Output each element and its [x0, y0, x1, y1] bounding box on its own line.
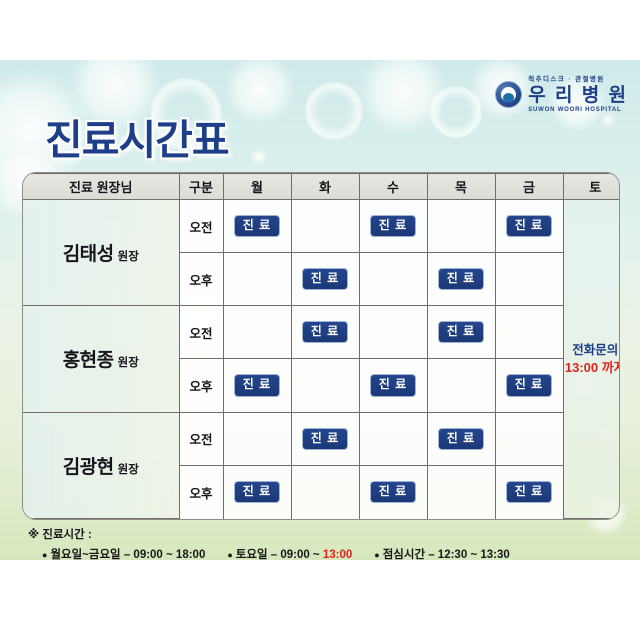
schedule-cell-active: 진 료	[427, 306, 495, 359]
schedule-cell-active: 진 료	[427, 412, 495, 465]
column-header-wednesday: 수	[359, 174, 427, 200]
schedule-cell-active: 진 료	[495, 359, 563, 412]
consultation-badge: 진 료	[370, 215, 416, 237]
consultation-badge: 진 료	[302, 428, 348, 450]
saturday-note-line2: 13:00 까지	[564, 359, 621, 378]
schedule-cell-active: 진 료	[223, 465, 291, 518]
table-header-row: 진료 원장님 구분 월 화 수 목 금 토	[23, 174, 620, 200]
bokeh-circle	[305, 82, 363, 140]
table-row: 김광현원장오전진 료진 료	[23, 412, 620, 465]
note-hours-row: ●월요일~금요일 – 09:00 ~ 18:00 ●토요일 – 09:00 ~ …	[28, 546, 618, 560]
bokeh-circle	[225, 60, 295, 124]
period-cell: 오전	[179, 412, 223, 465]
schedule-cell-empty	[359, 412, 427, 465]
column-header-period: 구분	[179, 174, 223, 200]
doctor-title: 원장	[118, 464, 139, 476]
consultation-badge: 진 료	[302, 321, 348, 343]
schedule-cell-active: 진 료	[359, 200, 427, 253]
doctor-title: 원장	[118, 357, 139, 369]
bokeh-circle	[430, 86, 482, 138]
schedule-cell-empty	[291, 359, 359, 412]
table-row: 김태성원장오전진 료진 료진 료전화문의13:00 까지	[23, 200, 620, 253]
note-hours-label: ※ 진료시간 :	[28, 526, 618, 542]
doctor-name: 김광현	[63, 457, 114, 478]
consultation-badge: 진 료	[302, 268, 348, 290]
doctor-title: 원장	[118, 251, 139, 263]
column-header-doctor: 진료 원장님	[23, 174, 179, 200]
consultation-badge: 진 료	[438, 428, 484, 450]
schedule-cell-empty	[223, 253, 291, 306]
schedule-cell-empty	[359, 306, 427, 359]
schedule-cell-empty	[495, 306, 563, 359]
column-header-saturday: 토	[563, 174, 620, 200]
logo-tagline: 척추디스크 · 관절병원	[528, 77, 628, 84]
consultation-badge: 진 료	[506, 481, 552, 503]
schedule-cell-active: 진 료	[291, 412, 359, 465]
clinic-schedule-poster: 진료시간표 척추디스크 · 관절병원 우 리 병 원 SUWON WOORI H…	[0, 60, 640, 560]
hospital-logo: 척추디스크 · 관절병원 우 리 병 원 SUWON WOORI HOSPITA…	[495, 77, 628, 113]
consultation-badge: 진 료	[506, 215, 552, 237]
schedule-table-card: 진료 원장님 구분 월 화 수 목 금 토 김태성원장오전진 료진 료진 료전화…	[22, 172, 620, 520]
schedule-cell-active: 진 료	[291, 306, 359, 359]
consultation-badge: 진 료	[370, 481, 416, 503]
schedule-cell-empty	[291, 200, 359, 253]
table-row: 홍현종원장오전진 료진 료	[23, 306, 620, 359]
schedule-table: 진료 원장님 구분 월 화 수 목 금 토 김태성원장오전진 료진 료진 료전화…	[23, 173, 620, 519]
note-lunch-hours: ●점심시간 – 12:30 ~ 13:30	[374, 546, 509, 560]
period-cell: 오후	[179, 359, 223, 412]
schedule-cell-active: 진 료	[427, 253, 495, 306]
bokeh-circle	[360, 60, 446, 134]
consultation-badge: 진 료	[438, 321, 484, 343]
consultation-badge: 진 료	[370, 374, 416, 396]
schedule-cell-empty	[427, 359, 495, 412]
schedule-cell-empty	[291, 465, 359, 518]
period-cell: 오전	[179, 200, 223, 253]
schedule-cell-empty	[223, 412, 291, 465]
doctor-name-cell: 홍현종원장	[23, 306, 179, 412]
schedule-cell-empty	[495, 253, 563, 306]
schedule-cell-empty	[495, 412, 563, 465]
schedule-cell-empty	[223, 306, 291, 359]
saturday-note-cell: 전화문의13:00 까지	[563, 200, 620, 519]
schedule-cell-empty	[359, 253, 427, 306]
doctor-name: 홍현종	[63, 350, 114, 371]
doctor-name-cell: 김태성원장	[23, 200, 179, 306]
schedule-cell-active: 진 료	[495, 200, 563, 253]
note-saturday-hours: ●토요일 – 09:00 ~ 13:00	[227, 546, 352, 560]
column-header-monday: 월	[223, 174, 291, 200]
schedule-cell-active: 진 료	[495, 465, 563, 518]
column-header-friday: 금	[495, 174, 563, 200]
bokeh-circle	[250, 148, 268, 166]
period-cell: 오후	[179, 253, 223, 306]
schedule-cell-active: 진 료	[223, 200, 291, 253]
consultation-badge: 진 료	[234, 215, 280, 237]
consultation-badge: 진 료	[234, 481, 280, 503]
consultation-badge: 진 료	[438, 268, 484, 290]
schedule-cell-active: 진 료	[223, 359, 291, 412]
consultation-badge: 진 료	[506, 374, 552, 396]
saturday-note-line1: 전화문의	[564, 341, 621, 359]
footnotes: ※ 진료시간 : ●월요일~금요일 – 09:00 ~ 18:00 ●토요일 –…	[28, 526, 618, 560]
period-cell: 오전	[179, 306, 223, 359]
period-cell: 오후	[179, 465, 223, 518]
schedule-cell-empty	[427, 465, 495, 518]
schedule-cell-empty	[427, 200, 495, 253]
note-weekday-hours: ●월요일~금요일 – 09:00 ~ 18:00	[42, 546, 205, 560]
schedule-cell-active: 진 료	[291, 253, 359, 306]
schedule-cell-active: 진 료	[359, 465, 427, 518]
doctor-name: 김태성	[63, 244, 114, 265]
schedule-cell-active: 진 료	[359, 359, 427, 412]
doctor-name-cell: 김광현원장	[23, 412, 179, 518]
table-body: 김태성원장오전진 료진 료진 료전화문의13:00 까지오후진 료진 료홍현종원…	[23, 200, 620, 519]
bokeh-circle	[600, 112, 616, 128]
hospital-logo-icon	[495, 81, 522, 108]
logo-hospital-name: 우 리 병 원	[528, 86, 628, 105]
page-title: 진료시간표	[45, 106, 229, 166]
consultation-badge: 진 료	[234, 374, 280, 396]
column-header-tuesday: 화	[291, 174, 359, 200]
column-header-thursday: 목	[427, 174, 495, 200]
logo-hospital-name-english: SUWON WOORI HOSPITAL	[528, 107, 628, 113]
